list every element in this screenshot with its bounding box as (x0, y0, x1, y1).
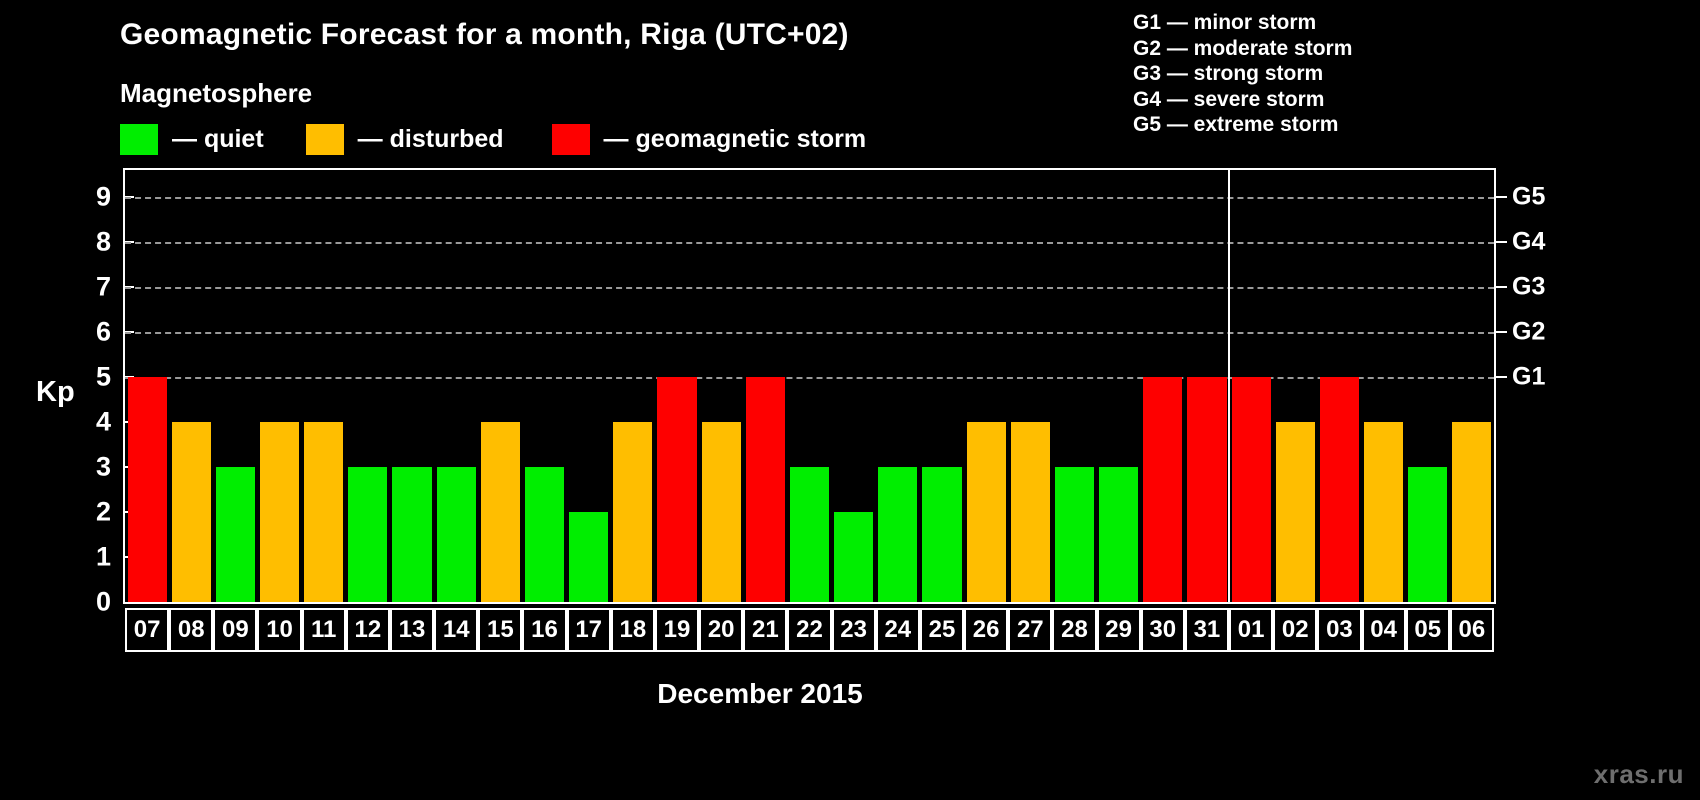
date-label[interactable]: 22 (787, 608, 831, 652)
now-marker-line (1228, 170, 1230, 602)
date-label[interactable]: 01 (1229, 608, 1273, 652)
y-axis-tick-label: 0 (71, 587, 111, 618)
date-label[interactable]: 05 (1406, 608, 1450, 652)
bar[interactable] (1364, 422, 1403, 602)
bar[interactable] (1011, 422, 1050, 602)
right-axis-tick-mark (1496, 241, 1507, 243)
bar[interactable] (525, 467, 564, 602)
date-label[interactable]: 13 (390, 608, 434, 652)
y-axis-tick-label: 8 (71, 227, 111, 258)
date-label[interactable]: 21 (743, 608, 787, 652)
bar[interactable] (1320, 377, 1359, 602)
legend: — quiet — disturbed — geomagnetic storm (120, 122, 866, 156)
storm-scale-g4: G4 — severe storm (1133, 87, 1352, 113)
legend-item-disturbed[interactable]: — disturbed (306, 124, 504, 155)
y-axis-tick-label: 5 (71, 362, 111, 393)
bar[interactable] (746, 377, 785, 602)
plot-inner (125, 170, 1494, 602)
bar[interactable] (878, 467, 917, 602)
date-label[interactable]: 19 (655, 608, 699, 652)
bar[interactable] (216, 467, 255, 602)
bar[interactable] (1143, 377, 1182, 602)
date-label[interactable]: 02 (1273, 608, 1317, 652)
bar[interactable] (1187, 377, 1226, 602)
watermark: xras.ru (1594, 759, 1684, 790)
legend-item-quiet[interactable]: — quiet (120, 124, 264, 155)
date-label[interactable]: 26 (964, 608, 1008, 652)
legend-label-disturbed: — disturbed (358, 125, 504, 154)
date-label[interactable]: 20 (699, 608, 743, 652)
bar[interactable] (834, 512, 873, 602)
bar[interactable] (172, 422, 211, 602)
date-label[interactable]: 06 (1450, 608, 1494, 652)
date-label[interactable]: 04 (1362, 608, 1406, 652)
bar[interactable] (437, 467, 476, 602)
storm-scale-g5: G5 — extreme storm (1133, 112, 1352, 138)
chart-page: Geomagnetic Forecast for a month, Riga (… (0, 0, 1700, 800)
x-axis-date-labels: 0708091011121314151617181920212223242526… (123, 608, 1496, 652)
right-axis-tick-label: G4 (1512, 228, 1545, 257)
page-title: Geomagnetic Forecast for a month, Riga (… (120, 18, 849, 52)
date-label[interactable]: 28 (1052, 608, 1096, 652)
bar[interactable] (1055, 467, 1094, 602)
legend-swatch-quiet (120, 124, 158, 155)
date-label[interactable]: 24 (876, 608, 920, 652)
date-label[interactable]: 09 (213, 608, 257, 652)
bar[interactable] (790, 467, 829, 602)
bar[interactable] (481, 422, 520, 602)
date-label[interactable]: 31 (1185, 608, 1229, 652)
legend-label-storm: — geomagnetic storm (604, 125, 867, 154)
bar[interactable] (392, 467, 431, 602)
storm-scale-legend: G1 — minor storm G2 — moderate storm G3 … (1133, 10, 1352, 138)
date-label[interactable]: 11 (302, 608, 346, 652)
bar[interactable] (1232, 377, 1271, 602)
y-axis-tick-label: 7 (71, 272, 111, 303)
bar[interactable] (1099, 467, 1138, 602)
legend-swatch-disturbed (306, 124, 344, 155)
storm-scale-g1: G1 — minor storm (1133, 10, 1352, 36)
date-label[interactable]: 18 (611, 608, 655, 652)
bar[interactable] (702, 422, 741, 602)
date-label[interactable]: 17 (567, 608, 611, 652)
legend-item-storm[interactable]: — geomagnetic storm (552, 124, 867, 155)
right-axis-tick-label: G1 (1512, 363, 1545, 392)
bar[interactable] (569, 512, 608, 602)
date-label[interactable]: 03 (1317, 608, 1361, 652)
date-label[interactable]: 25 (920, 608, 964, 652)
bar[interactable] (967, 422, 1006, 602)
bar[interactable] (1276, 422, 1315, 602)
y-axis-tick-label: 9 (71, 182, 111, 213)
bar[interactable] (348, 467, 387, 602)
storm-scale-g3: G3 — strong storm (1133, 61, 1352, 87)
y-axis-tick-label: 4 (71, 407, 111, 438)
plot-area (123, 168, 1496, 604)
x-axis-title: December 2015 (0, 678, 1700, 710)
bar[interactable] (922, 467, 961, 602)
date-label[interactable]: 12 (346, 608, 390, 652)
bar[interactable] (304, 422, 343, 602)
date-label[interactable]: 23 (832, 608, 876, 652)
legend-swatch-storm (552, 124, 590, 155)
bar-series (125, 170, 1494, 602)
bar[interactable] (657, 377, 696, 602)
bar[interactable] (260, 422, 299, 602)
right-axis-tick-mark (1496, 196, 1507, 198)
y-axis-tick-label: 6 (71, 317, 111, 348)
date-label[interactable]: 30 (1141, 608, 1185, 652)
date-label[interactable]: 15 (478, 608, 522, 652)
right-axis-tick-label: G2 (1512, 318, 1545, 347)
bar[interactable] (1452, 422, 1491, 602)
bar[interactable] (613, 422, 652, 602)
date-label[interactable]: 07 (125, 608, 169, 652)
storm-scale-g2: G2 — moderate storm (1133, 36, 1352, 62)
y-axis-title: Kp (36, 376, 75, 409)
y-axis-tick-label: 1 (71, 542, 111, 573)
bar[interactable] (128, 377, 167, 602)
date-label[interactable]: 16 (522, 608, 566, 652)
right-axis-tick-label: G5 (1512, 183, 1545, 212)
date-label[interactable]: 14 (434, 608, 478, 652)
right-axis-tick-label: G3 (1512, 273, 1545, 302)
date-label[interactable]: 10 (257, 608, 301, 652)
right-axis-tick-mark (1496, 286, 1507, 288)
date-label[interactable]: 27 (1008, 608, 1052, 652)
right-axis-tick-mark (1496, 376, 1507, 378)
right-axis-tick-mark (1496, 331, 1507, 333)
bar[interactable] (1408, 467, 1447, 602)
date-label[interactable]: 29 (1097, 608, 1141, 652)
date-label[interactable]: 08 (169, 608, 213, 652)
y-axis-tick-label: 3 (71, 452, 111, 483)
y-axis-tick-label: 2 (71, 497, 111, 528)
legend-label-quiet: — quiet (172, 125, 264, 154)
legend-group-label: Magnetosphere (120, 78, 312, 109)
